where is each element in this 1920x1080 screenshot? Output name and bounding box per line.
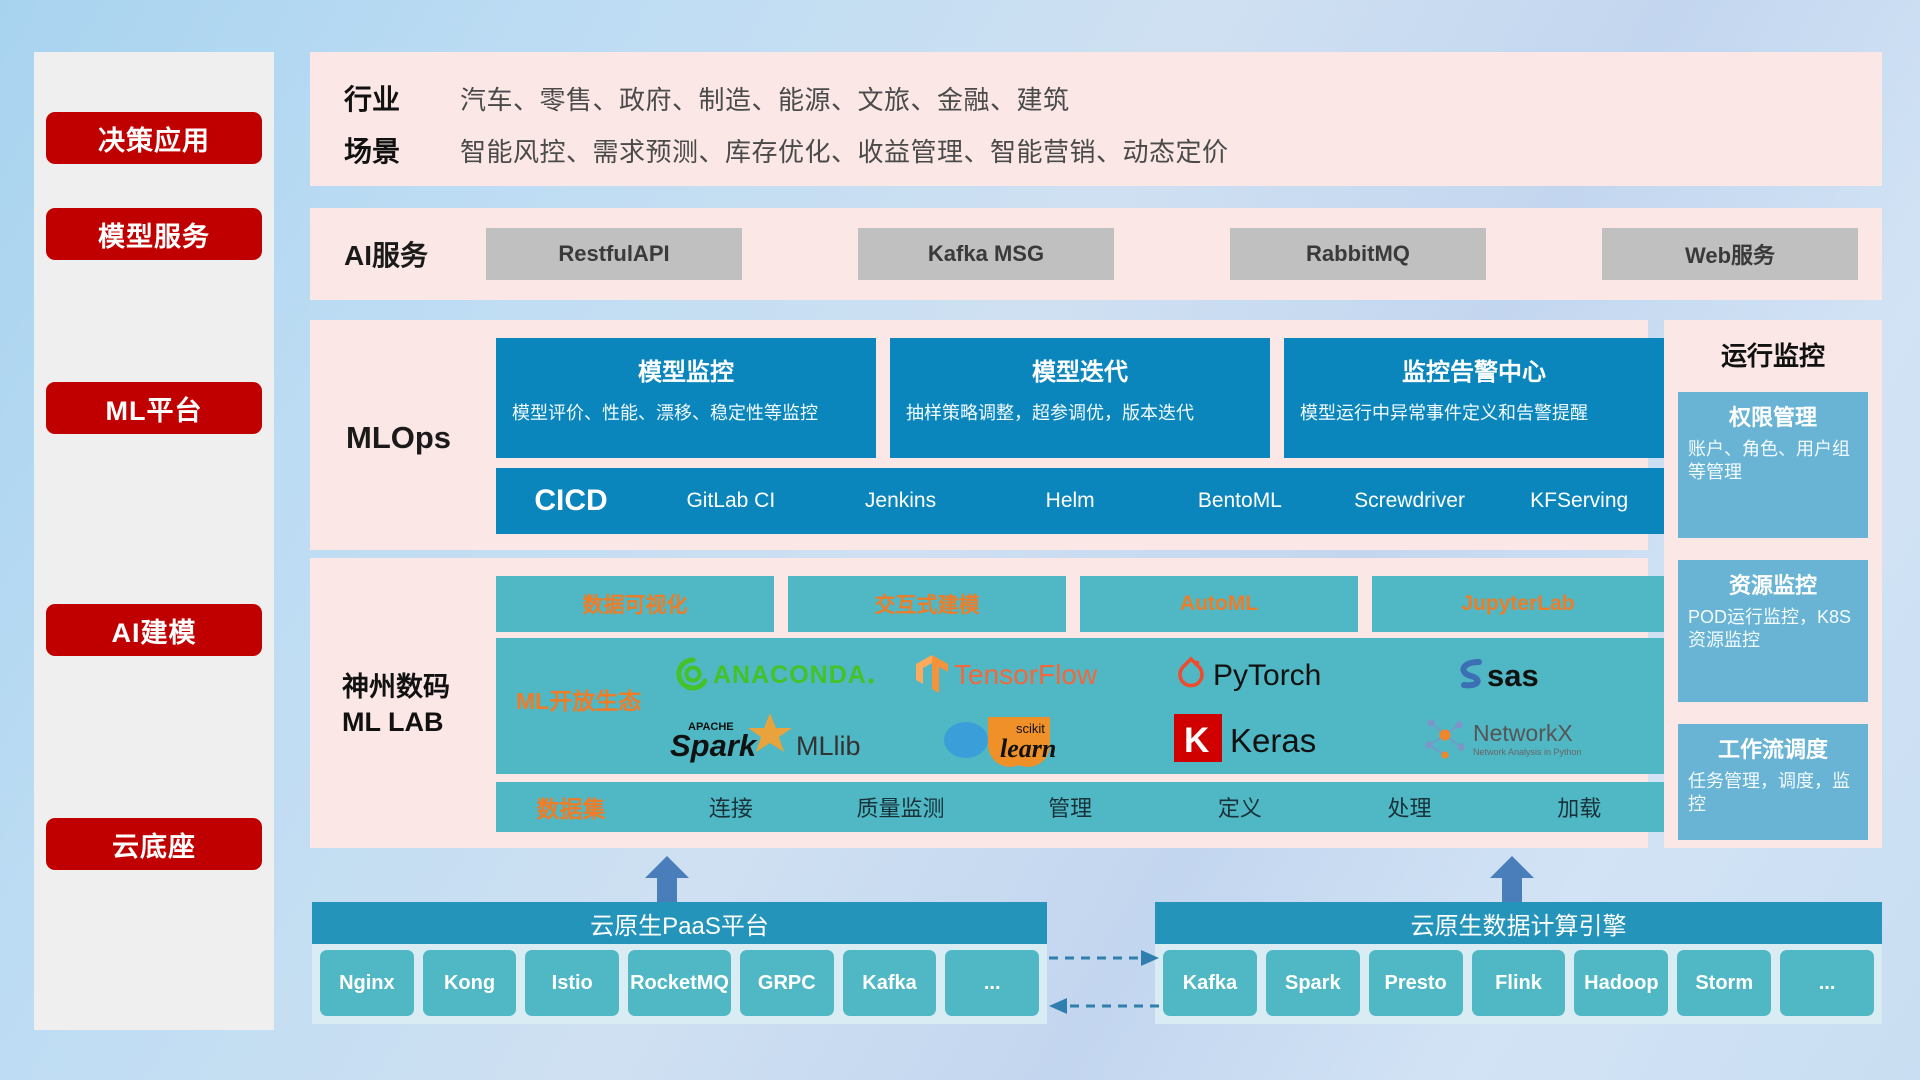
run-monitoring-title: 运行监控 [1664, 336, 1882, 373]
ml-lab-line2: ML LAB [342, 705, 450, 740]
mlops-card-model-monitoring[interactable]: 模型监控 模型评价、性能、漂移、稳定性等监控 [496, 338, 876, 458]
industry-key: 行业 [344, 78, 460, 118]
tool-chip-automl[interactable]: AutoML [1080, 576, 1358, 632]
tool-chip-data-visualization[interactable]: 数据可视化 [496, 576, 774, 632]
sas-logo: sas [1445, 653, 1615, 695]
rail-item-ml-platform[interactable]: ML平台 [46, 382, 262, 434]
spark-mllib-logo: APACHE Spark MLlib [652, 711, 892, 765]
rail-label: 决策应用 [98, 119, 210, 158]
mlops-card-alert-center[interactable]: 监控告警中心 模型运行中异常事件定义和告警提醒 [1284, 338, 1664, 458]
monitoring-card-permission[interactable]: 权限管理 账户、角色、用户组等管理 [1678, 392, 1868, 538]
arrow-up-paas [645, 856, 689, 904]
card-title: 权限管理 [1688, 400, 1858, 432]
paas-chip-kafka[interactable]: Kafka [843, 950, 937, 1016]
connector-paas-compute [1045, 948, 1163, 1020]
svg-text:TensorFlow: TensorFlow [954, 659, 1098, 690]
ai-service-chip-rabbitmq[interactable]: RabbitMQ [1230, 228, 1486, 280]
card-desc: 任务管理，调度，监控 [1688, 770, 1858, 817]
chip-label: 交互式建模 [875, 589, 980, 619]
cicd-item-screwdriver[interactable]: Screwdriver [1325, 490, 1495, 512]
rail-label: 云底座 [112, 825, 196, 864]
compute-chip-more[interactable]: ... [1780, 950, 1874, 1016]
cicd-title: CICD [496, 484, 646, 518]
paas-title: 云原生PaaS平台 [312, 902, 1047, 944]
mlops-label: MLOps [346, 420, 451, 456]
anaconda-logo: ANACONDA [667, 654, 877, 694]
svg-text:learn: learn [1000, 734, 1056, 763]
dataset-item-connect[interactable]: 连接 [646, 791, 816, 823]
compute-title: 云原生数据计算引擎 [1155, 902, 1882, 944]
mlops-card-model-iteration[interactable]: 模型迭代 抽样策略调整，超参调优，版本迭代 [890, 338, 1270, 458]
svg-text:ANACONDA: ANACONDA [713, 661, 867, 689]
diagram-canvas: 决策应用 模型服务 ML平台 AI建模 云底座 行业 汽车、零售、政府、制造、能… [0, 0, 1920, 1080]
cicd-item-bentoml[interactable]: BentoML [1155, 490, 1325, 512]
paas-chip-grpc[interactable]: GRPC [740, 950, 834, 1016]
dataset-item-define[interactable]: 定义 [1155, 791, 1325, 823]
card-desc: 模型评价、性能、漂移、稳定性等监控 [512, 401, 860, 426]
paas-chip-istio[interactable]: Istio [525, 950, 619, 1016]
rail-label: 模型服务 [98, 215, 210, 254]
panel-ai-service: AI服务 RestfulAPI Kafka MSG RabbitMQ Web服务 [310, 208, 1882, 300]
cicd-item-gitlab-ci[interactable]: GitLab CI [646, 490, 816, 512]
networkx-logo: NetworkX Network Analysis in Python [1415, 713, 1645, 763]
svg-text:NetworkX: NetworkX [1473, 720, 1573, 746]
ai-service-chip-restfulapi[interactable]: RestfulAPI [486, 228, 742, 280]
scikit-learn-logo: scikit learn [930, 711, 1120, 765]
keras-logo: K Keras [1172, 712, 1382, 764]
stack-paas: 云原生PaaS平台 Nginx Kong Istio RocketMQ GRPC… [312, 902, 1047, 1024]
svg-text:MLlib: MLlib [796, 731, 861, 761]
eco-label: ML开放生态 [516, 682, 641, 716]
panel-industry-scenario: 行业 汽车、零售、政府、制造、能源、文旅、金融、建筑 场景 智能风控、需求预测、… [310, 52, 1882, 186]
chip-label: Web服务 [1685, 238, 1775, 270]
card-desc: 模型运行中异常事件定义和告警提醒 [1300, 401, 1648, 426]
rail-label: AI建模 [112, 611, 197, 650]
card-title: 监控告警中心 [1300, 352, 1648, 387]
ml-lab-label: 神州数码 ML LAB [342, 670, 450, 739]
dataset-item-load[interactable]: 加载 [1494, 791, 1664, 823]
ai-service-chip-kafka-msg[interactable]: Kafka MSG [858, 228, 1114, 280]
compute-chip-spark[interactable]: Spark [1266, 950, 1360, 1016]
ai-service-label: AI服务 [344, 234, 428, 274]
chip-label: AutoML [1180, 592, 1258, 616]
cicd-item-kfserving[interactable]: KFServing [1494, 490, 1664, 512]
panel-mlops: MLOps 模型监控 模型评价、性能、漂移、稳定性等监控 模型迭代 抽样策略调整… [310, 320, 1648, 550]
compute-chip-hadoop[interactable]: Hadoop [1574, 950, 1668, 1016]
chip-label: Kafka MSG [928, 241, 1044, 267]
compute-chip-kafka[interactable]: Kafka [1163, 950, 1257, 1016]
svg-text:PyTorch: PyTorch [1213, 659, 1321, 692]
tool-chip-interactive-modeling[interactable]: 交互式建模 [788, 576, 1066, 632]
pytorch-logo: PyTorch [1175, 653, 1380, 695]
dataset-item-manage[interactable]: 管理 [985, 791, 1155, 823]
chip-label: 数据可视化 [583, 589, 688, 619]
panel-run-monitoring: 运行监控 权限管理 账户、角色、用户组等管理 资源监控 POD运行监控，K8S资… [1664, 320, 1882, 848]
panel-ai-modeling: 神州数码 ML LAB 数据可视化 交互式建模 AutoML JupyterLa… [310, 558, 1648, 848]
dataset-bar: 数据集 连接 质量监测 管理 定义 处理 加载 [496, 782, 1664, 832]
ml-lab-line1: 神州数码 [342, 670, 450, 705]
card-title: 模型迭代 [906, 352, 1254, 387]
paas-chip-kong[interactable]: Kong [423, 950, 517, 1016]
svg-text:Spark: Spark [670, 728, 758, 763]
svg-text:sas: sas [1487, 658, 1539, 693]
layer-rail: 决策应用 模型服务 ML平台 AI建模 云底座 [34, 52, 274, 1030]
stack-compute: 云原生数据计算引擎 Kafka Spark Presto Flink Hadoo… [1155, 902, 1882, 1024]
scenario-value: 智能风控、需求预测、库存优化、收益管理、智能营销、动态定价 [460, 132, 1229, 169]
dataset-item-quality[interactable]: 质量监测 [816, 791, 986, 823]
rail-item-decision-app[interactable]: 决策应用 [46, 112, 262, 164]
paas-items: Nginx Kong Istio RocketMQ GRPC Kafka ... [320, 950, 1039, 1016]
industry-value: 汽车、零售、政府、制造、能源、文旅、金融、建筑 [460, 80, 1070, 117]
cicd-item-helm[interactable]: Helm [985, 490, 1155, 512]
chip-label: RabbitMQ [1306, 241, 1410, 267]
paas-chip-rocketmq[interactable]: RocketMQ [628, 950, 731, 1016]
arrow-up-compute [1490, 856, 1534, 904]
scenario-key: 场景 [344, 130, 460, 170]
chip-label: RestfulAPI [558, 241, 669, 267]
rail-item-model-service[interactable]: 模型服务 [46, 208, 262, 260]
card-title: 资源监控 [1688, 568, 1858, 600]
compute-chip-storm[interactable]: Storm [1677, 950, 1771, 1016]
monitoring-card-resource[interactable]: 资源监控 POD运行监控，K8S资源监控 [1678, 560, 1868, 702]
tensorflow-logo: TensorFlow [910, 653, 1140, 695]
tool-chip-jupyterlab[interactable]: JupyterLab [1372, 576, 1664, 632]
compute-chip-flink[interactable]: Flink [1472, 950, 1566, 1016]
card-title: 工作流调度 [1688, 732, 1858, 764]
paas-chip-more[interactable]: ... [945, 950, 1039, 1016]
paas-chip-nginx[interactable]: Nginx [320, 950, 414, 1016]
compute-chip-presto[interactable]: Presto [1369, 950, 1463, 1016]
ml-open-ecosystem: ML开放生态 ANACONDA TensorFl [496, 638, 1664, 774]
cicd-item-jenkins[interactable]: Jenkins [816, 490, 986, 512]
dataset-title: 数据集 [496, 790, 646, 824]
svg-text:Network Analysis in Python: Network Analysis in Python [1473, 747, 1582, 757]
card-desc: POD运行监控，K8S资源监控 [1688, 606, 1858, 653]
rail-item-cloud-base[interactable]: 云底座 [46, 818, 262, 870]
svg-text:K: K [1184, 721, 1209, 760]
monitoring-card-workflow[interactable]: 工作流调度 任务管理，调度，监控 [1678, 724, 1868, 840]
rail-label: ML平台 [106, 389, 203, 428]
card-desc: 抽样策略调整，超参调优，版本迭代 [906, 401, 1254, 426]
card-desc: 账户、角色、用户组等管理 [1688, 438, 1858, 485]
mlops-cicd-bar: CICD GitLab CI Jenkins Helm BentoML Scre… [496, 468, 1664, 534]
eco-logo-grid: ANACONDA TensorFlow [646, 642, 1656, 770]
compute-items: Kafka Spark Presto Flink Hadoop Storm ..… [1163, 950, 1874, 1016]
ai-service-chip-web-service[interactable]: Web服务 [1602, 228, 1858, 280]
svg-text:Keras: Keras [1230, 722, 1316, 759]
dataset-item-process[interactable]: 处理 [1325, 791, 1495, 823]
rail-item-ai-modeling[interactable]: AI建模 [46, 604, 262, 656]
card-title: 模型监控 [512, 352, 860, 387]
chip-label: JupyterLab [1461, 592, 1574, 616]
